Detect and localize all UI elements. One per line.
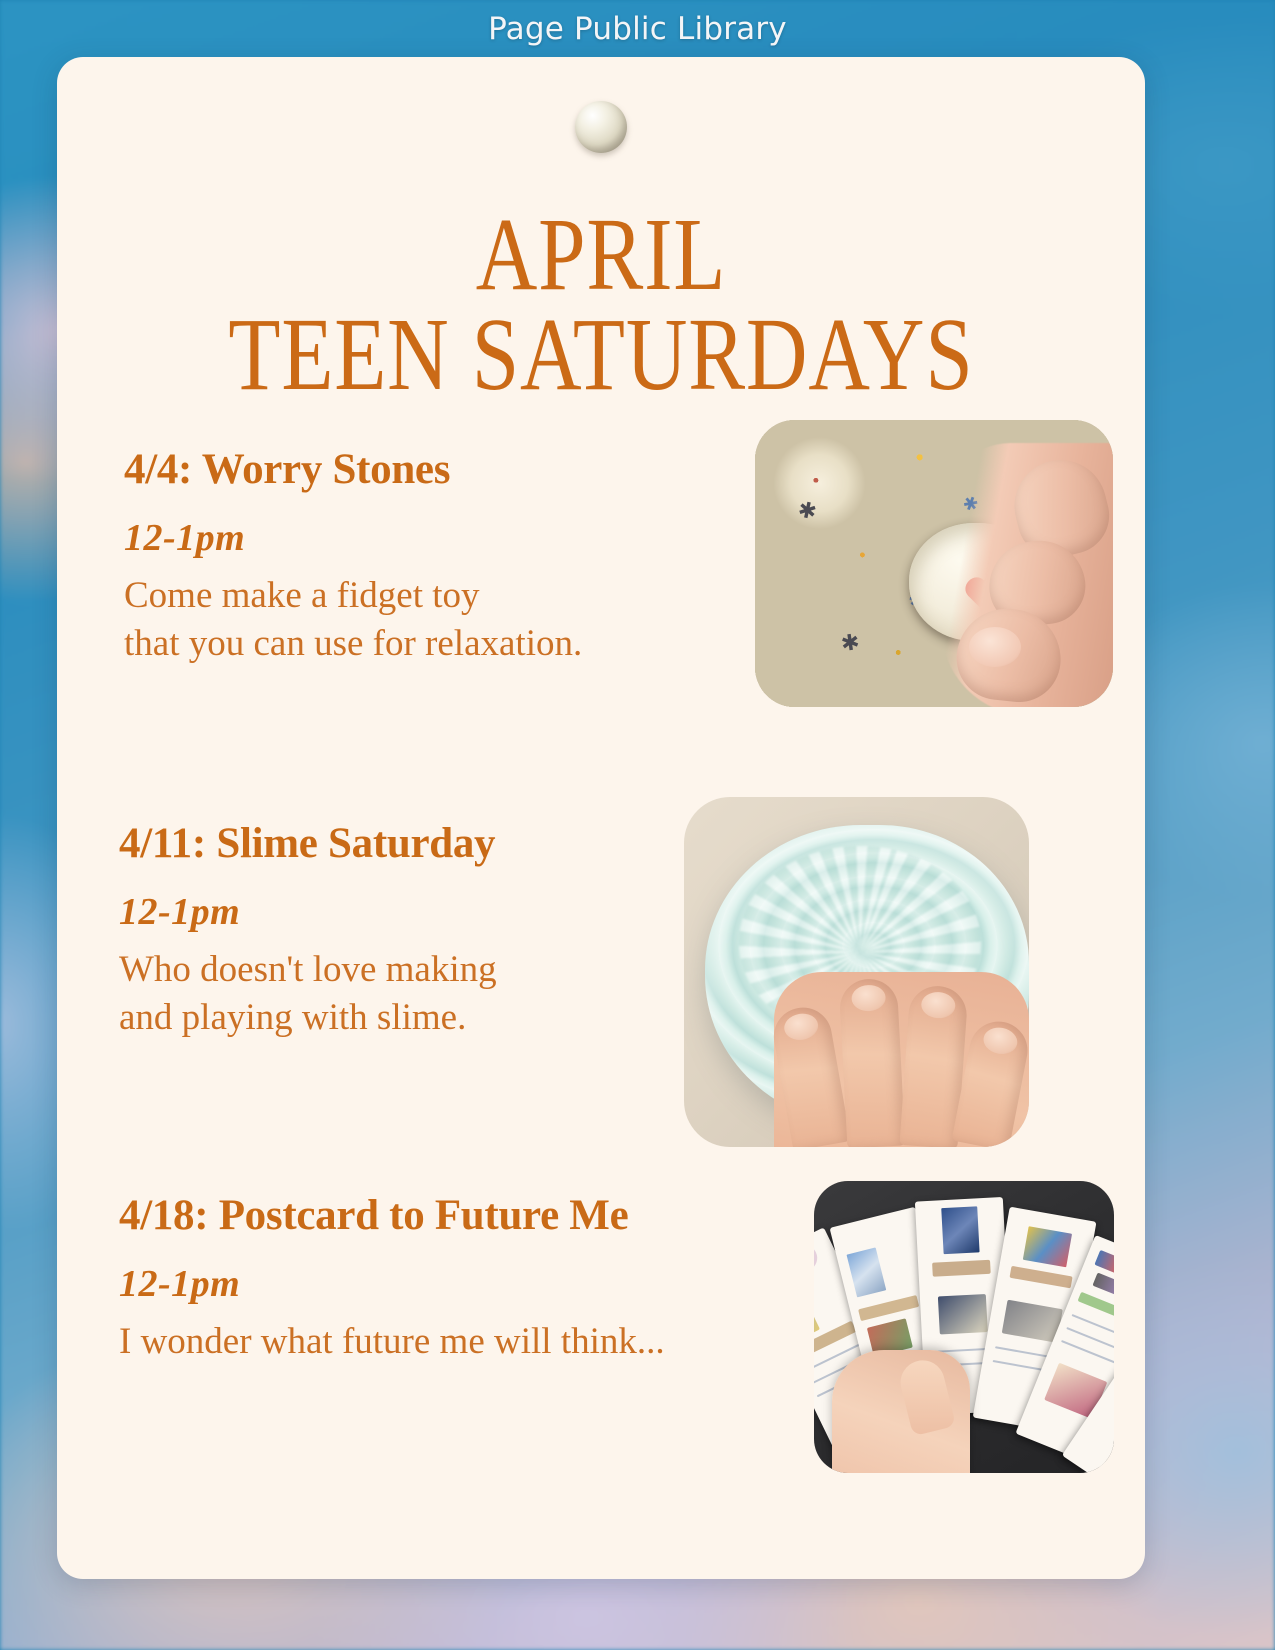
poster-card: APRIL TEEN SATURDAYS 4/4: Worry Stones 1… (57, 57, 1145, 1579)
poster-header: Page Public Library (0, 0, 1275, 57)
event-time: 12-1pm (119, 1262, 665, 1306)
postage-stamp (846, 1247, 886, 1297)
fingernail (782, 1011, 820, 1043)
worry-stones-photo: ✱ ✱ ✱ ✱ (755, 420, 1113, 707)
event-description-line: I wonder what future me will think... (119, 1318, 665, 1366)
event-description-line: and playing with slime. (119, 994, 497, 1042)
postage-stamp (941, 1206, 979, 1254)
fingernail (982, 1025, 1020, 1057)
event-time: 12-1pm (124, 516, 582, 560)
event-entry-worry-stones: 4/4: Worry Stones 12-1pm Come make a fid… (124, 445, 582, 668)
fingernail (969, 627, 1021, 667)
finger (838, 978, 905, 1147)
fingernail (920, 991, 956, 1019)
sticker (938, 1294, 988, 1334)
fingernail (851, 984, 886, 1012)
organization-name: Page Public Library (488, 11, 787, 47)
title-line-month: APRIL (155, 207, 1047, 303)
event-description-line: Who doesn't love making (119, 946, 497, 994)
event-time: 12-1pm (119, 890, 497, 934)
event-description-line: that you can use for relaxation. (124, 620, 582, 668)
event-headline: 4/18: Postcard to Future Me (119, 1191, 665, 1240)
slime-photo (684, 797, 1029, 1147)
pearl-pushpin-icon (575, 101, 627, 153)
event-headline: 4/4: Worry Stones (124, 445, 582, 494)
washi-tape (858, 1295, 919, 1321)
event-headline: 4/11: Slime Saturday (119, 819, 497, 868)
event-entry-postcard-to-future-me: 4/18: Postcard to Future Me 12-1pm I won… (119, 1191, 665, 1366)
poster-title: APRIL TEEN SATURDAYS (57, 207, 1145, 407)
washi-tape (1009, 1266, 1072, 1289)
washi-tape (932, 1260, 991, 1277)
star-mark-icon: ✱ (839, 631, 860, 655)
postage-stamp (1023, 1226, 1072, 1267)
dot-sticker (814, 1241, 822, 1276)
postcards-photo (814, 1181, 1114, 1473)
title-line-program: TEEN SATURDAYS (155, 303, 1047, 407)
event-entry-slime-saturday: 4/11: Slime Saturday 12-1pm Who doesn't … (119, 819, 497, 1042)
event-description-line: Come make a fidget toy (124, 572, 582, 620)
